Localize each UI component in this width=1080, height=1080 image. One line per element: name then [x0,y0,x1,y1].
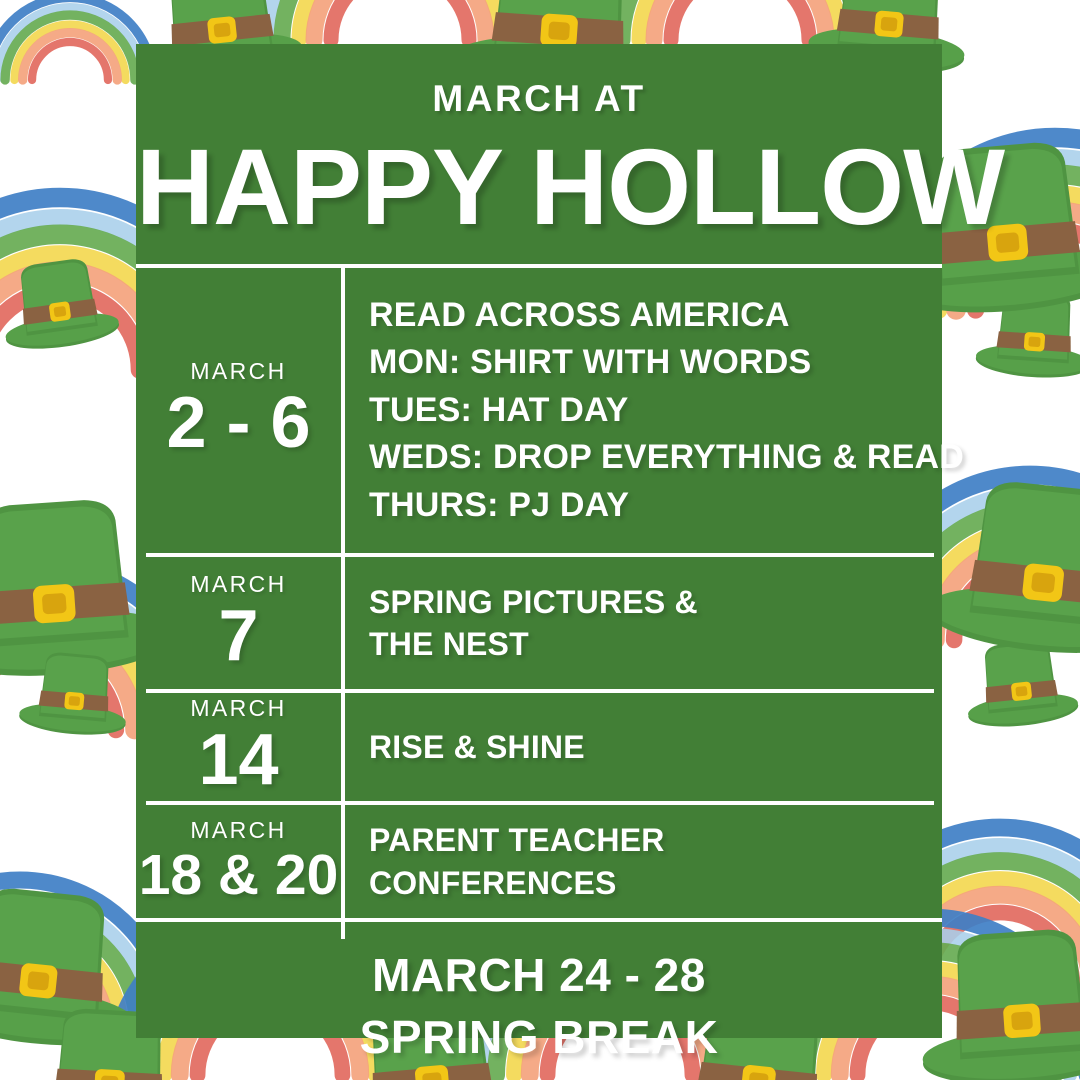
date-cell: MARCH 7 [136,557,341,689]
event-line: THE NEST [369,623,932,665]
event-line: CONFERENCES [369,862,932,904]
date-cell: MARCH 2 - 6 [136,268,341,553]
poster: MARCH AT HAPPY HOLLOW MARCH 2 - 6 READ A… [0,0,1080,1080]
month-label: MARCH [190,573,286,596]
event-line: SPRING PICTURES & [369,581,932,623]
day-number: 2 - 6 [166,387,310,460]
month-label: MARCH [190,697,286,720]
event-line: READ ACROSS AMERICA [369,292,964,340]
day-number: 14 [198,724,278,797]
day-number: 18 & 20 [139,846,339,904]
spring-break-label: SPRING BREAK [136,1006,942,1068]
rainbow-icon [0,0,152,80]
table-row: MARCH 18 & 20 PARENT TEACHER CONFERENCES [136,805,942,918]
event-line: PARENT TEACHER [369,819,932,861]
spring-break-banner: MARCH 24 - 28 SPRING BREAK [136,944,942,1068]
day-number: 7 [218,600,258,673]
table-row: MARCH 14 RISE & SHINE [136,693,942,801]
event-line: RISE & SHINE [369,726,932,768]
event-line: TUES: HAT DAY [369,387,964,435]
event-cell: SPRING PICTURES & THE NEST [341,557,942,689]
event-cell: READ ACROSS AMERICA MON: SHIRT WITH WORD… [341,268,974,553]
event-cell: PARENT TEACHER CONFERENCES [341,805,942,918]
row-divider [136,918,942,922]
event-line: MON: SHIRT WITH WORDS [369,339,964,387]
month-label: MARCH [190,360,286,383]
date-cell: MARCH 14 [136,693,341,801]
school-wordmark: HAPPY HOLLOW [136,129,942,246]
table-row: MARCH 2 - 6 READ ACROSS AMERICA MON: SHI… [136,268,942,553]
event-cell: RISE & SHINE [341,693,942,801]
poster-header: MARCH AT HAPPY HOLLOW [136,44,942,246]
date-cell: MARCH 18 & 20 [136,805,341,918]
month-label: MARCH [190,819,286,842]
event-line: WEDS: DROP EVERYTHING & READ [369,434,964,482]
event-card: MARCH AT HAPPY HOLLOW MARCH 2 - 6 READ A… [136,44,942,1038]
spring-break-dates: MARCH 24 - 28 [136,944,942,1006]
table-row: MARCH 7 SPRING PICTURES & THE NEST [136,557,942,689]
event-line: THURS: PJ DAY [369,482,964,530]
poster-kicker: MARCH AT [136,80,942,117]
